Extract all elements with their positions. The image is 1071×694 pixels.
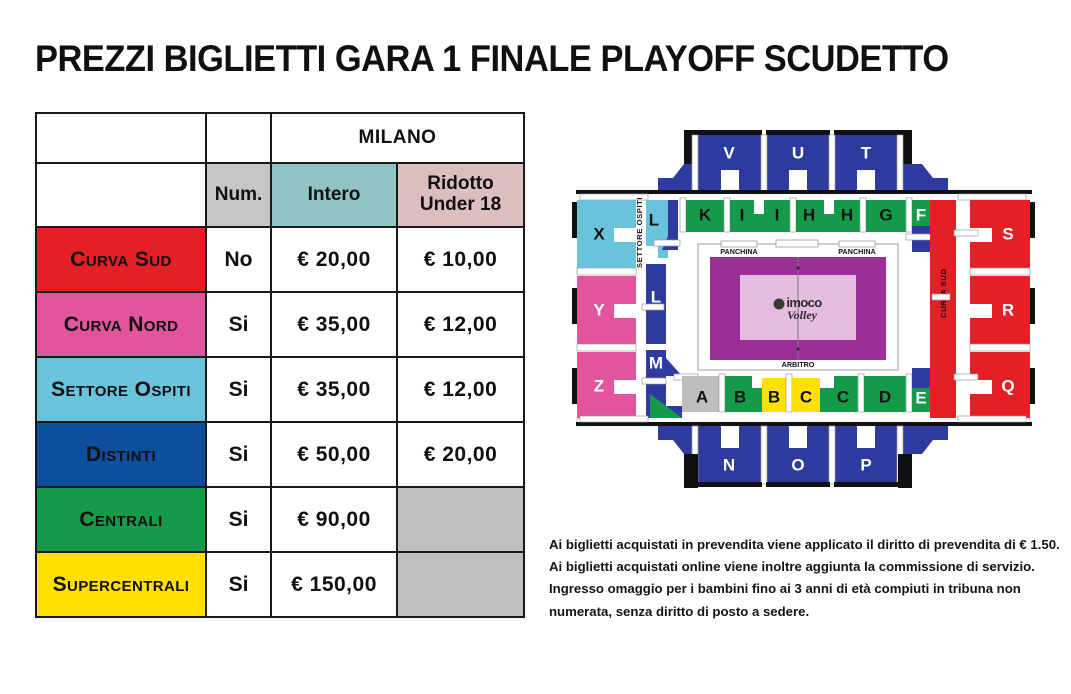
left-black-cap-1 bbox=[572, 202, 577, 238]
num-centrali: Si bbox=[206, 487, 271, 552]
price-intero-distinti: € 50,00 bbox=[271, 422, 397, 487]
price-ridotto-distinti: € 20,00 bbox=[397, 422, 524, 487]
group-header-milano: MILANO bbox=[271, 113, 524, 163]
map-sector-label-M: M bbox=[649, 353, 663, 372]
price-ridotto-curva-sud: € 10,00 bbox=[397, 227, 524, 292]
stairway-top-0 bbox=[692, 135, 698, 192]
price-intero-centrali: € 90,00 bbox=[271, 487, 397, 552]
stairway-left-inner-3 bbox=[642, 378, 666, 384]
map-zone-bottom: N O P bbox=[658, 426, 948, 488]
stairway-top-1 bbox=[761, 135, 767, 192]
top-black-bar-2 bbox=[766, 130, 830, 135]
court-dot-bottom bbox=[796, 347, 799, 350]
right-black-cap-3 bbox=[1030, 368, 1035, 404]
num-settore-ospiti: Si bbox=[206, 357, 271, 422]
note-line-1: Ai biglietti acquistati in prevendita vi… bbox=[549, 534, 1049, 556]
price-intero-curva-sud: € 20,00 bbox=[271, 227, 397, 292]
map-sector-label-C-green: C bbox=[837, 387, 849, 406]
map-sector-I-1 bbox=[730, 200, 764, 232]
map-sector-label-H-2: H bbox=[841, 205, 853, 224]
map-sector-label-U: U bbox=[792, 143, 804, 162]
map-sector-Q bbox=[970, 352, 1030, 418]
bottom-right-walkway bbox=[958, 416, 1026, 422]
table-row: Curva Nord Si € 35,00 € 12,00 bbox=[36, 292, 524, 357]
map-sector-label-C-yellow: C bbox=[800, 387, 812, 406]
arena-seating-map[interactable]: V U T X Y Z SETTORE OSPITI bbox=[558, 118, 1048, 518]
map-zone-left: X Y Z bbox=[572, 200, 636, 425]
map-sector-label-A: A bbox=[696, 387, 708, 406]
map-sector-Z bbox=[577, 352, 636, 418]
pricing-table: MILANO Num. Intero Ridotto Under 18 Curv… bbox=[35, 112, 525, 618]
page-title: PREZZI BIGLIETTI GARA 1 FINALE PLAYOFF S… bbox=[35, 38, 949, 80]
sector-label-distinti: Distinti bbox=[36, 422, 206, 487]
map-sector-label-D: D bbox=[879, 387, 891, 406]
right-black-cap-2 bbox=[1030, 288, 1035, 324]
stairway-right-top bbox=[954, 230, 978, 236]
price-ridotto-curva-nord: € 12,00 bbox=[397, 292, 524, 357]
left-walkway-1 bbox=[577, 268, 636, 275]
ridotto-line-2: Under 18 bbox=[420, 194, 501, 215]
map-label-settore-ospiti: SETTORE OSPITI bbox=[635, 197, 644, 268]
stairway-top-2 bbox=[829, 135, 835, 192]
stairway-bottom-2 bbox=[829, 426, 835, 484]
volleyball-court: PANCHINA PANCHINA ARBITRO imoco Volley bbox=[698, 240, 898, 370]
sector-label-curva-nord: Curva Nord bbox=[36, 292, 206, 357]
header-sector-blank bbox=[36, 163, 206, 227]
bottom-rail bbox=[576, 422, 1032, 426]
map-sector-label-B-green: B bbox=[734, 387, 746, 406]
price-ridotto-settore-ospiti: € 12,00 bbox=[397, 357, 524, 422]
map-sector-X bbox=[577, 200, 636, 268]
map-sector-label-L-lower: L bbox=[651, 287, 661, 306]
num-curva-nord: Si bbox=[206, 292, 271, 357]
bottom-left-walkway bbox=[580, 416, 648, 422]
table-header-row: Num. Intero Ridotto Under 18 bbox=[36, 163, 524, 227]
map-sector-label-S: S bbox=[1002, 224, 1013, 243]
map-sector-R bbox=[970, 276, 1030, 344]
map-sector-label-X: X bbox=[593, 224, 605, 243]
stairway-bottom-1 bbox=[761, 426, 767, 484]
column-header-num: Num. bbox=[206, 163, 271, 227]
court-label-panchina-left: PANCHINA bbox=[720, 247, 757, 256]
map-sector-label-K: K bbox=[699, 205, 712, 224]
ridotto-line-1: Ridotto bbox=[427, 173, 493, 194]
map-sector-label-I-1: I bbox=[740, 205, 745, 224]
map-zone-right: S R Q bbox=[970, 200, 1035, 425]
stairway-inner-top-1 bbox=[724, 198, 730, 232]
stairway-top-3 bbox=[897, 135, 903, 192]
left-black-cap-3 bbox=[572, 368, 577, 404]
map-sector-Y bbox=[577, 276, 636, 344]
map-zone-inner-bottom: A B B C C D E bbox=[674, 368, 930, 412]
note-line-3: Ingresso omaggio per i bambini fino ai 3… bbox=[549, 578, 1049, 600]
header-spacer-cell bbox=[36, 113, 206, 163]
logo-text-volley: Volley bbox=[787, 308, 818, 322]
map-sector-S bbox=[970, 200, 1030, 268]
scorer-table-box bbox=[776, 240, 818, 247]
stairway-inner-bottom-3 bbox=[858, 374, 864, 412]
map-sector-L-upper-blue-edge bbox=[668, 200, 678, 238]
price-intero-supercentrali: € 150,00 bbox=[271, 552, 397, 617]
num-supercentrali: Si bbox=[206, 552, 271, 617]
court-dot-top bbox=[796, 266, 799, 269]
map-sector-label-N: N bbox=[723, 455, 735, 474]
sector-label-settore-ospiti: Settore Ospiti bbox=[36, 357, 206, 422]
top-black-bar-3 bbox=[834, 130, 898, 135]
court-label-arbitro: ARBITRO bbox=[782, 360, 815, 369]
map-sector-label-H-1: H bbox=[803, 205, 815, 224]
header-spacer-cell-2 bbox=[206, 113, 271, 163]
map-sector-label-B-yellow: B bbox=[768, 387, 780, 406]
map-zone-top: V U T bbox=[658, 130, 948, 192]
left-black-cap-2 bbox=[572, 288, 577, 324]
price-ridotto-centrali-unavailable bbox=[397, 487, 524, 552]
stairway-curva-sud bbox=[932, 294, 950, 300]
map-sector-label-R: R bbox=[1002, 300, 1014, 319]
bottom-black-bar-3 bbox=[834, 482, 898, 487]
map-zone-inner-left: L L M bbox=[642, 200, 682, 418]
map-sector-label-Q: Q bbox=[1001, 376, 1014, 395]
map-sector-label-O: O bbox=[791, 455, 804, 474]
top-rail bbox=[576, 190, 1032, 194]
price-intero-settore-ospiti: € 35,00 bbox=[271, 357, 397, 422]
num-curva-sud: No bbox=[206, 227, 271, 292]
stairway-inner-bottom-2 bbox=[786, 374, 792, 412]
note-line-4: numerata, senza diritto di posto a seder… bbox=[549, 601, 1049, 623]
table-row: Centrali Si € 90,00 bbox=[36, 487, 524, 552]
stairway-inner-top-0 bbox=[680, 198, 686, 232]
stairway-left-inner-1 bbox=[654, 240, 680, 246]
stairway-inner-top-2 bbox=[790, 198, 796, 232]
map-label-curva-sud: CURVA SUD bbox=[939, 268, 948, 318]
map-sector-label-I-2: I bbox=[775, 205, 780, 224]
sector-label-centrali: Centrali bbox=[36, 487, 206, 552]
bottom-black-bar-1 bbox=[698, 482, 762, 487]
map-sector-label-E: E bbox=[915, 388, 926, 407]
map-sector-label-Z: Z bbox=[594, 376, 604, 395]
table-row: Supercentrali Si € 150,00 bbox=[36, 552, 524, 617]
top-right-walkway bbox=[958, 194, 1026, 200]
top-black-bar-1 bbox=[698, 130, 762, 135]
court-label-panchina-right: PANCHINA bbox=[838, 247, 875, 256]
stairway-inner-bottom-1 bbox=[719, 374, 725, 412]
table-row: Settore Ospiti Si € 35,00 € 12,00 bbox=[36, 357, 524, 422]
num-distinti: Si bbox=[206, 422, 271, 487]
sector-label-curva-sud: Curva Sud bbox=[36, 227, 206, 292]
bottom-black-cap-left bbox=[684, 454, 698, 488]
bottom-black-cap-right bbox=[898, 454, 912, 488]
table-header-group-row: MILANO bbox=[36, 113, 524, 163]
map-sector-label-T: T bbox=[861, 143, 872, 162]
right-walkway-1 bbox=[970, 268, 1030, 275]
terms-note: Ai biglietti acquistati in prevendita vi… bbox=[549, 534, 1049, 623]
map-sector-label-L-upper: L bbox=[649, 210, 659, 229]
stairway-left-inner-2 bbox=[642, 304, 664, 310]
map-sector-label-F: F bbox=[916, 205, 926, 224]
sector-label-supercentrali: Supercentrali bbox=[36, 552, 206, 617]
price-intero-curva-nord: € 35,00 bbox=[271, 292, 397, 357]
table-row: Distinti Si € 50,00 € 20,00 bbox=[36, 422, 524, 487]
stairway-inner-top-3 bbox=[860, 198, 866, 232]
map-sector-label-G: G bbox=[879, 205, 892, 224]
map-sector-label-P: P bbox=[860, 455, 871, 474]
stairway-inner-top-4 bbox=[906, 198, 912, 232]
right-black-cap-1 bbox=[1030, 202, 1035, 238]
stairway-right-bottom bbox=[954, 374, 978, 380]
column-header-intero: Intero bbox=[271, 163, 397, 227]
column-header-ridotto: Ridotto Under 18 bbox=[397, 163, 524, 227]
bottom-black-bar-2 bbox=[766, 482, 830, 487]
pricing-table-container: MILANO Num. Intero Ridotto Under 18 Curv… bbox=[35, 112, 525, 618]
stairway-inner-bottom-4 bbox=[906, 374, 912, 412]
note-line-2: Ai biglietti acquistati online viene ino… bbox=[549, 556, 1049, 578]
left-walkway-2 bbox=[577, 344, 636, 351]
right-walkway-2 bbox=[970, 344, 1030, 351]
table-row: Curva Sud No € 20,00 € 10,00 bbox=[36, 227, 524, 292]
map-sector-label-V: V bbox=[723, 143, 735, 162]
price-ridotto-supercentrali-unavailable bbox=[397, 552, 524, 617]
map-sector-label-Y: Y bbox=[593, 300, 605, 319]
